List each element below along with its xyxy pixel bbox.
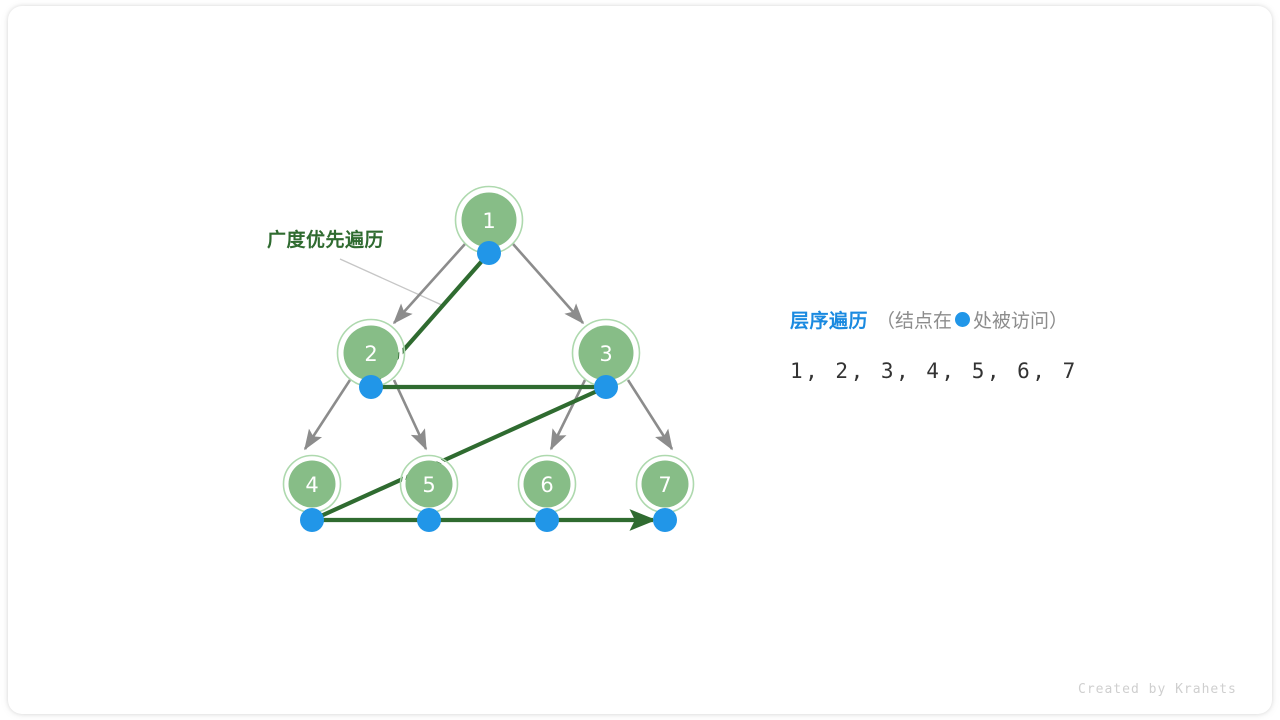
node-6[interactable]: 6 — [519, 456, 576, 513]
visit-dot-node-3[interactable] — [594, 375, 618, 399]
visit-dot-node-6[interactable] — [535, 508, 559, 532]
bfs-caption-label: 广度优先遍历 — [267, 225, 384, 252]
level-order-title: 层序遍历 — [790, 306, 868, 333]
node-7[interactable]: 7 — [637, 456, 694, 513]
visit-dot-icon — [955, 312, 970, 327]
visit-dot-node-5[interactable] — [417, 508, 441, 532]
node-7-label: 7 — [658, 473, 671, 497]
node-6-label: 6 — [540, 473, 553, 497]
tree-edge-1-3 — [513, 244, 583, 323]
node-3-label: 3 — [599, 342, 612, 366]
visit-dot-node-2[interactable] — [359, 375, 383, 399]
credit-label: Created by Krahets — [1078, 682, 1237, 697]
visit-dot-node-7[interactable] — [653, 508, 677, 532]
traversal-sequence: 1, 2, 3, 4, 5, 6, 7 — [790, 359, 1230, 383]
node-4-label: 4 — [305, 473, 318, 497]
level-order-note: （结点在 处被访问） — [876, 306, 1068, 333]
node-5-label: 5 — [422, 473, 435, 497]
node-2-label: 2 — [364, 342, 377, 366]
tree-edge-3-7 — [628, 380, 672, 449]
visit-dot-node-1[interactable] — [477, 241, 501, 265]
node-4[interactable]: 4 — [284, 456, 341, 513]
tree-edge-1-2 — [394, 244, 465, 323]
level-order-note-suffix: 处被访问） — [973, 306, 1068, 333]
tree-edge-2-4 — [305, 380, 350, 449]
side-panel: 层序遍历 （结点在 处被访问） 1, 2, 3, 4, 5, 6, 7 — [790, 306, 1230, 383]
tree-edge-3-6 — [551, 380, 585, 449]
node-1-label: 1 — [482, 209, 495, 233]
diagram-card: 1 2 3 4 5 — [8, 6, 1272, 714]
node-5[interactable]: 5 — [401, 456, 458, 513]
level-order-title-row: 层序遍历 （结点在 处被访问） — [790, 306, 1230, 333]
visit-dot-node-4[interactable] — [300, 508, 324, 532]
caption-leader-line — [340, 259, 444, 306]
tree-edge-2-5 — [394, 380, 426, 449]
level-order-note-prefix: （结点在 — [876, 306, 952, 333]
